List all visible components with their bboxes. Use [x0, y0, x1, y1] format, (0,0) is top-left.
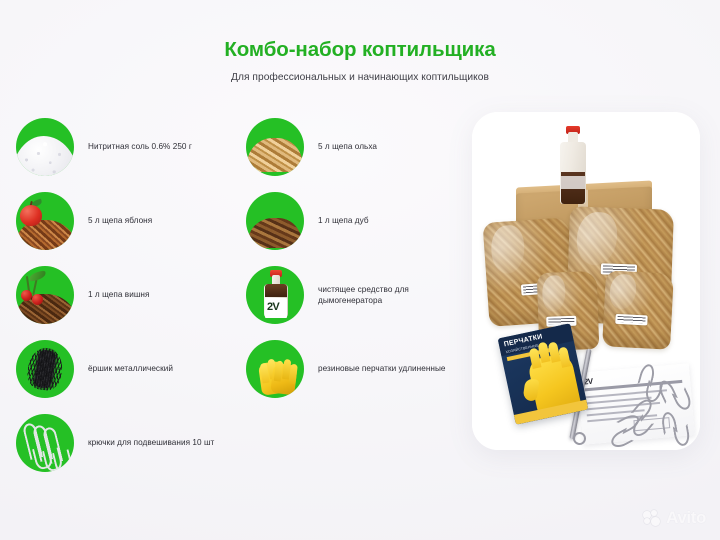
promo-image: Комбо-набор коптильщика Для профессионал…	[0, 0, 720, 540]
page-subtitle: Для профессиональных и начинающих коптил…	[0, 72, 720, 83]
feature-list-left: Нитритная соль 0.6% 250 г 5 л щепа яблон…	[16, 112, 246, 482]
list-item-label: ёршик металлический	[88, 363, 173, 374]
chip-bag	[602, 270, 674, 349]
list-item: резиновые перчатки удлиненные	[246, 334, 471, 404]
avito-watermark: Avito	[643, 508, 706, 528]
bottle-label	[561, 176, 585, 189]
product-photo-card: 2V ПЕРЧАТКИ ХОЗЯЙСТВЕННЫЕ	[472, 112, 700, 450]
salt-icon	[16, 118, 74, 176]
list-item: крючки для подвешивания 10 шт	[16, 408, 246, 478]
metal-brush-icon	[16, 340, 74, 398]
hooks-icon	[16, 414, 74, 472]
oak-chips-icon	[246, 192, 304, 250]
list-item-label: резиновые перчатки удлиненные	[318, 363, 446, 374]
page-title: Комбо-набор коптильщика	[0, 38, 720, 63]
list-item-label: 1 л щепа вишня	[88, 289, 150, 300]
cleaning-bottle-icon: 2V	[246, 266, 304, 324]
list-item: Нитритная соль 0.6% 250 г	[16, 112, 246, 182]
list-item-label: 5 л щепа яблоня	[88, 215, 152, 226]
list-item: 1 л щепа вишня	[16, 260, 246, 330]
product-photo: 2V ПЕРЧАТКИ ХОЗЯЙСТВЕННЫЕ	[472, 112, 700, 450]
list-item: 1 л щепа дуб	[246, 186, 471, 256]
apple-chips-icon	[16, 192, 74, 250]
list-item-label: 5 л щепа ольха	[318, 141, 377, 152]
list-item: ёршик металлический	[16, 334, 246, 404]
cherry-chips-icon	[16, 266, 74, 324]
avito-wordmark: Avito	[666, 508, 706, 528]
list-item: 5 л щепа яблоня	[16, 186, 246, 256]
list-item: 5 л щепа ольха	[246, 112, 471, 182]
list-item-label: крючки для подвешивания 10 шт	[88, 437, 214, 448]
feature-list-right: 5 л щепа ольха 1 л щепа дуб 2V чистящее …	[246, 112, 471, 408]
list-item-label: Нитритная соль 0.6% 250 г	[88, 141, 192, 152]
list-item: 2V чистящее средство для дымогенератора	[246, 260, 471, 330]
bottle-brand-text: 2V	[267, 301, 279, 313]
list-item-label: чистящее средство для дымогенератора	[318, 284, 470, 307]
list-item-label: 1 л щепа дуб	[318, 215, 369, 226]
rubber-gloves-icon	[246, 340, 304, 398]
avito-dots-icon	[643, 510, 663, 526]
alder-chips-icon	[246, 118, 304, 176]
header: Комбо-набор коптильщика Для профессионал…	[0, 38, 720, 83]
